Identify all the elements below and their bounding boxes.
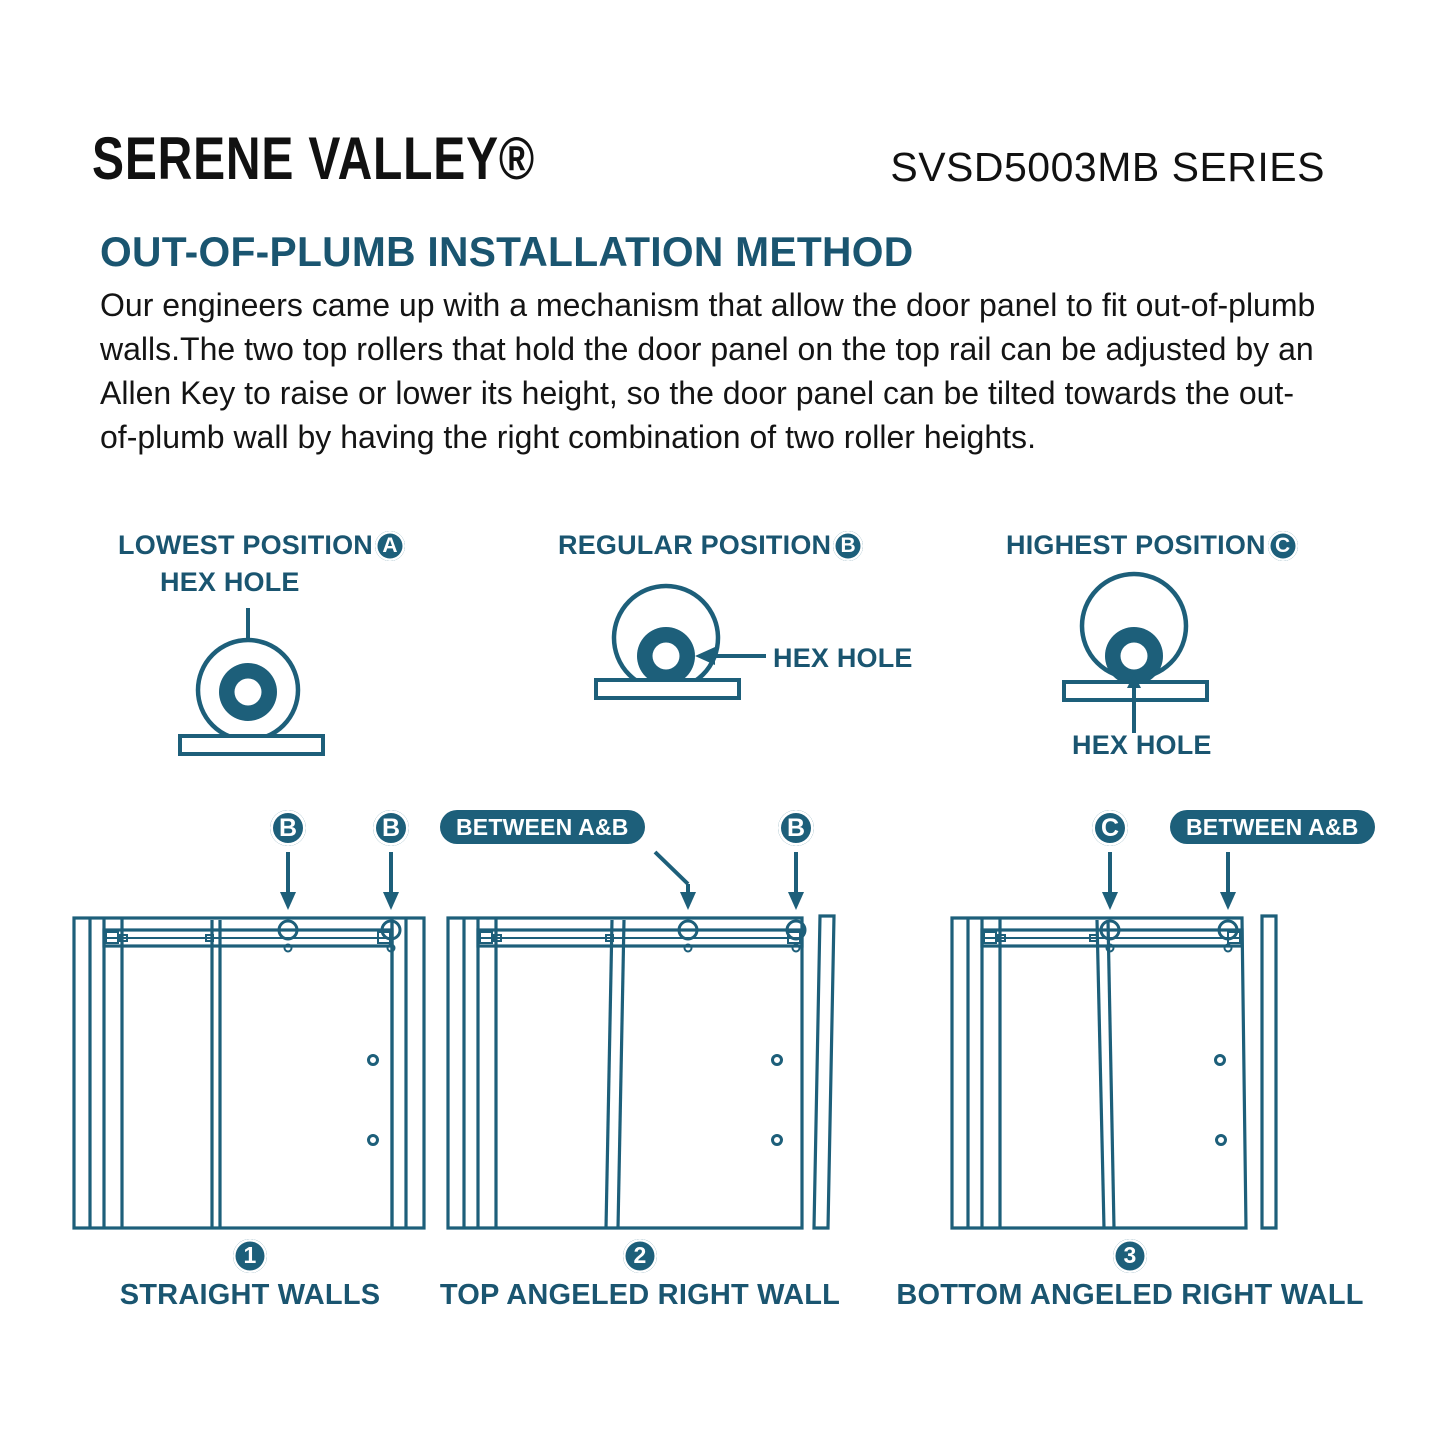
roller-figure-regular: REGULAR POSITION B HEX HOLE: [558, 530, 938, 745]
marker-pill-2a: BETWEEN A&B: [440, 810, 645, 844]
roller-title-a: LOWEST POSITION A: [118, 530, 405, 561]
marker-badge-2b: B: [778, 810, 814, 846]
position-badge-b: B: [833, 531, 863, 561]
roller-figure-lowest: LOWEST POSITION A HEX HOLE: [118, 530, 448, 760]
brand-logo: SERENE VALLEY®: [92, 124, 535, 193]
door-figure-bottom-angled: C BETWEEN A&B: [880, 808, 1380, 1328]
door-figure-top-angled: BETWEEN A&B B: [430, 808, 850, 1328]
door-number-badge-3: 3: [1113, 1239, 1147, 1273]
door-number-badge-1: 1: [233, 1239, 267, 1273]
roller-title-b: REGULAR POSITION B: [558, 530, 863, 561]
door-diagram-1: [60, 848, 440, 1288]
position-badge-c: C: [1268, 531, 1298, 561]
marker-badge-3a: C: [1092, 810, 1128, 846]
roller-title-c-text: HIGHEST POSITION: [1006, 530, 1266, 561]
hex-hole-label-a: HEX HOLE: [160, 567, 300, 598]
roller-title-a-text: LOWEST POSITION: [118, 530, 373, 561]
series-label: SVSD5003MB SERIES: [890, 144, 1325, 191]
roller-diagram-a: [118, 600, 448, 760]
door-number-wrap-2: 2: [430, 1238, 850, 1273]
door-figure-straight-walls: B B: [60, 808, 440, 1328]
intro-paragraph: Our engineers came up with a mechanism t…: [100, 283, 1331, 459]
door-caption-2: 2 TOP ANGELED RIGHT WALL: [430, 1238, 850, 1312]
marker-badge-1a: B: [270, 810, 306, 846]
marker-badge-1b: B: [373, 810, 409, 846]
position-badge-a: A: [375, 531, 405, 561]
door-number-badge-2: 2: [623, 1239, 657, 1273]
roller-title-b-text: REGULAR POSITION: [558, 530, 831, 561]
door-diagram-3: [880, 848, 1380, 1288]
door-caption-text-1: STRAIGHT WALLS: [120, 1279, 381, 1311]
door-caption-3: 3 BOTTOM ANGELED RIGHT WALL: [880, 1238, 1380, 1312]
marker-pill-3b: BETWEEN A&B: [1170, 810, 1375, 844]
door-number-wrap-3: 3: [880, 1238, 1380, 1273]
door-caption-1: 1 STRAIGHT WALLS: [60, 1238, 440, 1312]
roller-figure-highest: HIGHEST POSITION C HEX HOLE: [1006, 530, 1326, 775]
door-caption-text-2: TOP ANGELED RIGHT WALL: [440, 1279, 840, 1311]
installation-guide-page: SERENE VALLEY® SVSD5003MB SERIES OUT-OF-…: [0, 0, 1445, 1445]
door-diagram-2: [430, 848, 850, 1288]
roller-diagram-b: [558, 568, 938, 728]
roller-title-c: HIGHEST POSITION C: [1006, 530, 1298, 561]
roller-diagram-c: [1006, 558, 1326, 738]
door-caption-text-3: BOTTOM ANGELED RIGHT WALL: [896, 1279, 1363, 1311]
door-number-wrap-1: 1: [60, 1238, 440, 1273]
page-title: OUT-OF-PLUMB INSTALLATION METHOD: [100, 228, 913, 276]
